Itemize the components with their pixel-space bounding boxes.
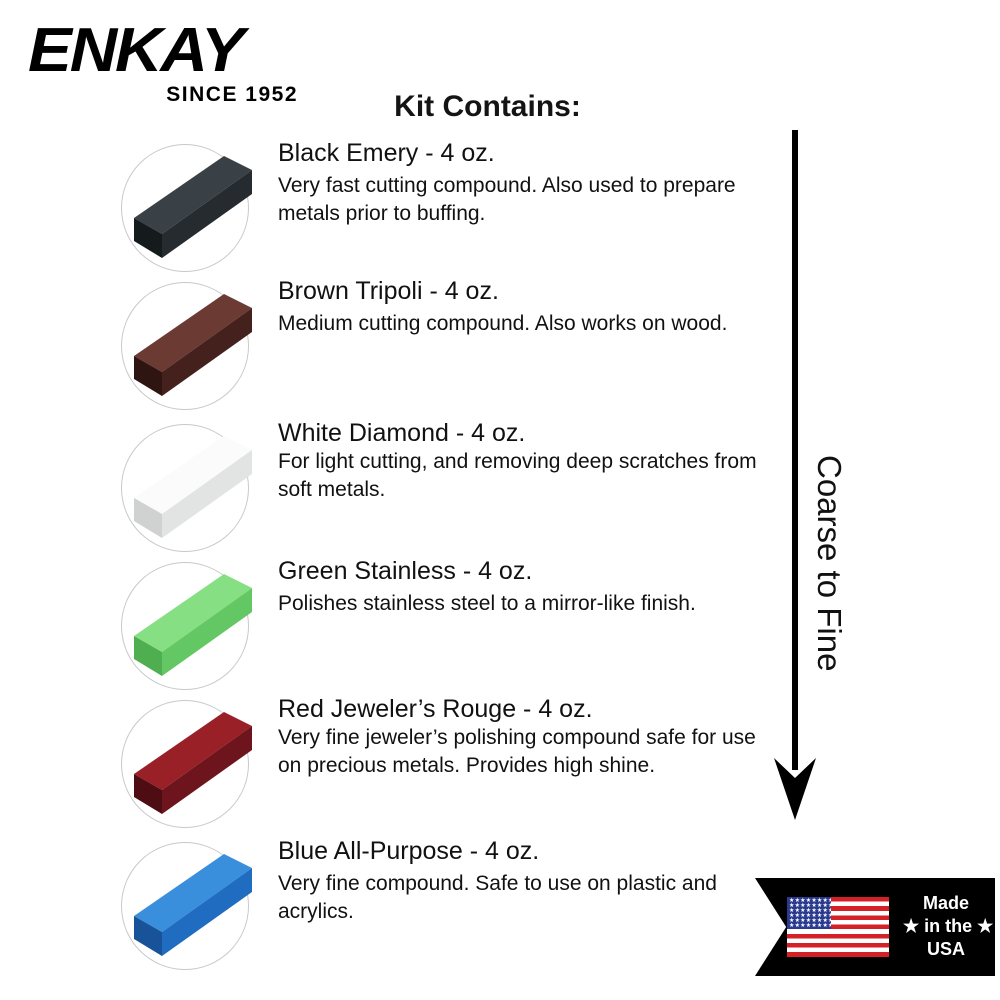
product-text: Blue All-Purpose - 4 oz.Very fine compou… bbox=[278, 836, 778, 926]
badge-line-made: Made bbox=[903, 892, 989, 915]
product-thumbnail-blue-all-purpose bbox=[110, 836, 260, 976]
product-thumbnail-green-stainless bbox=[110, 556, 260, 696]
product-description: Very fast cutting compound. Also used to… bbox=[278, 172, 778, 228]
product-text: Green Stainless - 4 oz.Polishes stainles… bbox=[278, 556, 778, 618]
product-name: White Diamond - 4 oz. bbox=[278, 418, 778, 448]
star-icon-left: ★ bbox=[903, 916, 919, 936]
compound-bar-icon-black-emery bbox=[112, 140, 260, 276]
badge-line-in-the: ★ in the ★ bbox=[903, 915, 989, 938]
compound-bar-icon-red-jewelers-rouge bbox=[112, 696, 260, 832]
compound-bar-icon-brown-tripoli bbox=[112, 278, 260, 414]
product-text: Brown Tripoli - 4 oz.Medium cutting comp… bbox=[278, 276, 778, 338]
flag-stars: ★★★★★★★★★★★★★★★★★★★★★★★★★★★★★★★★★★★★★★★★… bbox=[787, 897, 831, 929]
product-name: Black Emery - 4 oz. bbox=[278, 138, 778, 168]
coarse-to-fine-indicator: Coarse to Fine bbox=[760, 130, 890, 820]
united-states-flag-icon: ★★★★★★★★★★★★★★★★★★★★★★★★★★★★★★★★★★★★★★★★… bbox=[787, 897, 889, 957]
product-thumbnail-red-jewelers-rouge bbox=[110, 694, 260, 834]
compound-bar-icon-white-diamond bbox=[112, 420, 260, 556]
product-thumbnail-white-diamond bbox=[110, 418, 260, 558]
product-description: Medium cutting compound. Also works on w… bbox=[278, 310, 778, 338]
badge-line-in-the-text: in the bbox=[924, 916, 972, 936]
compound-bar-icon-blue-all-purpose bbox=[112, 838, 260, 974]
product-list: Black Emery - 4 oz.Very fast cutting com… bbox=[0, 0, 790, 1000]
badge-text: Made ★ in the ★ USA bbox=[903, 892, 989, 961]
made-in-usa-badge: ★★★★★★★★★★★★★★★★★★★★★★★★★★★★★★★★★★★★★★★★… bbox=[755, 878, 995, 976]
star-icon-right: ★ bbox=[977, 916, 993, 936]
product-text: Red Jeweler’s Rouge - 4 oz.Very fine jew… bbox=[278, 694, 778, 780]
coarse-to-fine-label: Coarse to Fine bbox=[810, 455, 848, 671]
product-text: Black Emery - 4 oz.Very fast cutting com… bbox=[278, 138, 778, 228]
product-description: Very fine jeweler’s polishing compound s… bbox=[278, 724, 778, 780]
product-thumbnail-black-emery bbox=[110, 138, 260, 278]
product-thumbnail-brown-tripoli bbox=[110, 276, 260, 416]
product-description: For light cutting, and removing deep scr… bbox=[278, 448, 778, 504]
product-name: Green Stainless - 4 oz. bbox=[278, 556, 778, 586]
badge-line-usa: USA bbox=[903, 938, 989, 961]
product-description: Very fine compound. Safe to use on plast… bbox=[278, 870, 778, 926]
compound-bar-icon-green-stainless bbox=[112, 558, 260, 694]
product-name: Brown Tripoli - 4 oz. bbox=[278, 276, 778, 306]
product-text: White Diamond - 4 oz.For light cutting, … bbox=[278, 418, 778, 504]
product-description: Polishes stainless steel to a mirror-lik… bbox=[278, 590, 778, 618]
product-name: Blue All-Purpose - 4 oz. bbox=[278, 836, 778, 866]
product-name: Red Jeweler’s Rouge - 4 oz. bbox=[278, 694, 778, 724]
